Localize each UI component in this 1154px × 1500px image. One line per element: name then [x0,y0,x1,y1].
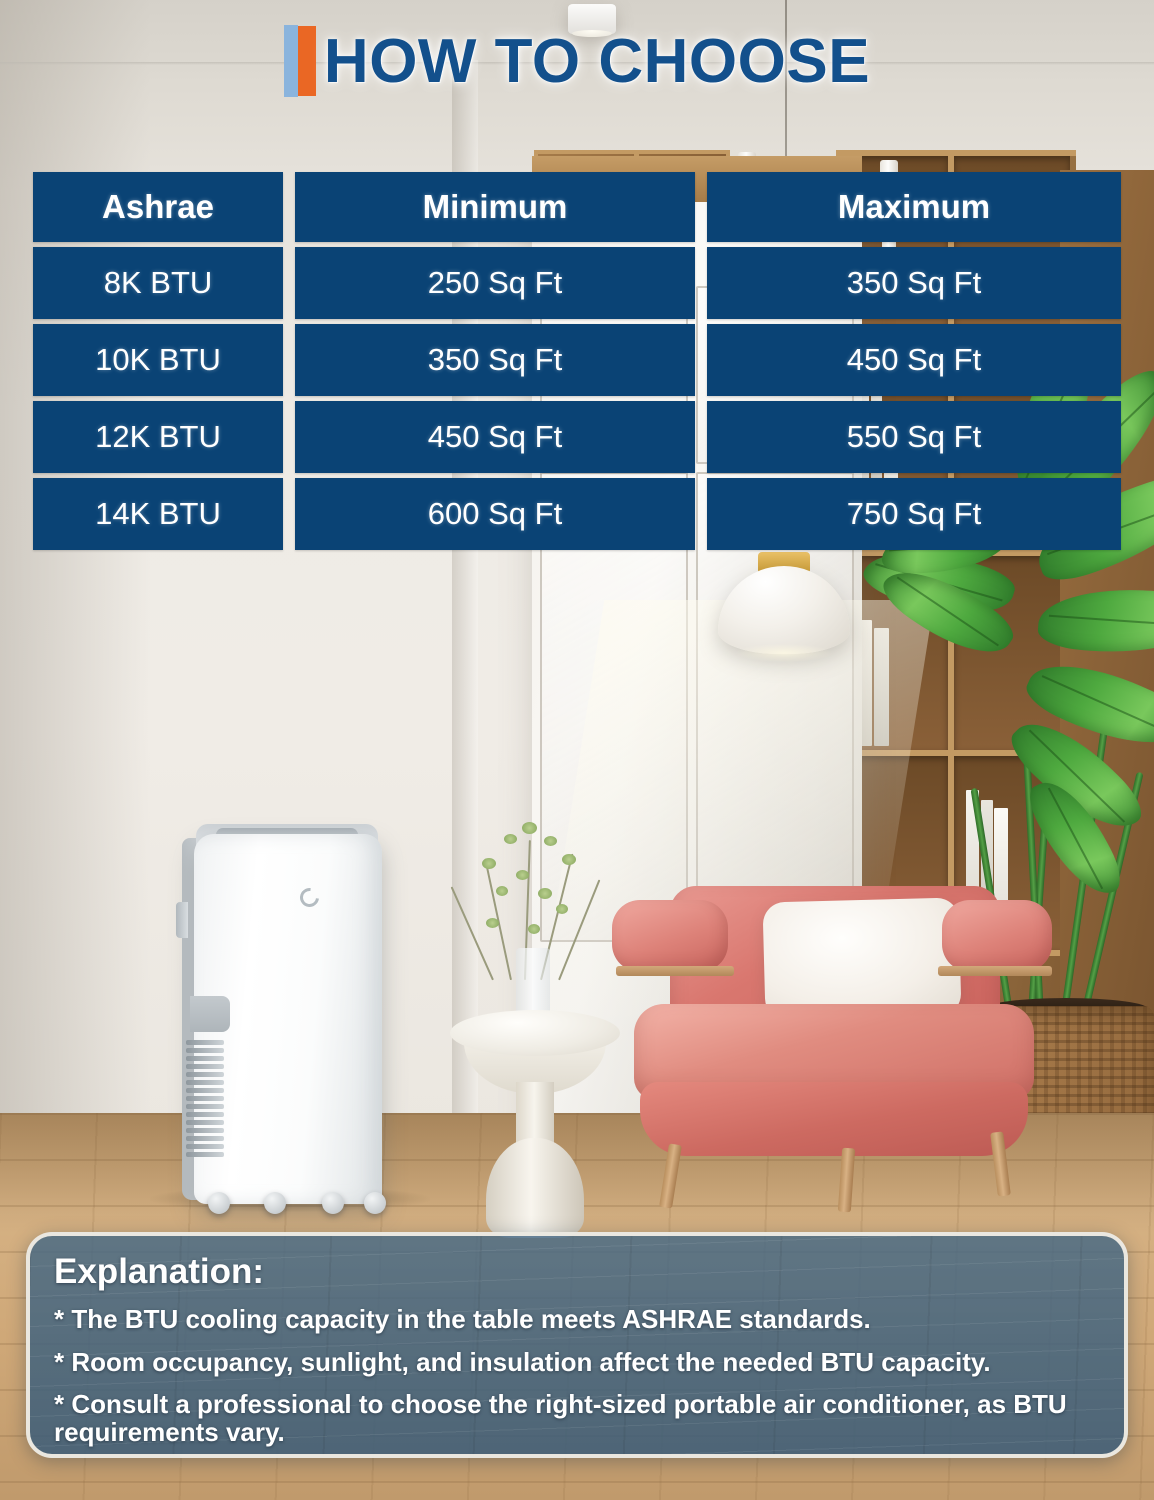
table-cell-ashrae: 14K BTU [33,478,283,550]
table-row: 14K BTU 600 Sq Ft 750 Sq Ft [33,478,1121,550]
table-header-maximum: Maximum [707,172,1121,242]
table-header-ashrae: Ashrae [33,172,283,242]
pendant-lamp [718,548,850,660]
table-header-row: Ashrae Minimum Maximum [33,172,1121,242]
table-cell-ashrae: 12K BTU [33,401,283,473]
white-pillow [762,897,961,1020]
portable-air-conditioner [160,824,410,1214]
table-cell-minimum: 250 Sq Ft [295,247,695,319]
caster-wheel [264,1192,286,1214]
table-cell-maximum: 750 Sq Ft [707,478,1121,550]
title-accent-blue-bar [284,25,298,97]
table-header-minimum: Minimum [295,172,695,242]
table-cell-minimum: 600 Sq Ft [295,478,695,550]
table-row: 8K BTU 250 Sq Ft 350 Sq Ft [33,247,1121,319]
table-row: 12K BTU 450 Sq Ft 550 Sq Ft [33,401,1121,473]
air-vent-grille-icon [186,1040,224,1180]
infographic-canvas: HOW TO CHOOSE Ashrae Minimum Maximum 8K … [0,0,1154,1500]
table-row: 10K BTU 350 Sq Ft 450 Sq Ft [33,324,1121,396]
title-accent-orange-bar [298,26,316,96]
caster-wheel [208,1192,230,1214]
btu-sizing-table: Ashrae Minimum Maximum 8K BTU 250 Sq Ft … [33,172,1121,550]
explanation-line: * Consult a professional to choose the r… [54,1391,1100,1446]
explanation-heading: Explanation: [54,1252,1100,1292]
table-cell-ashrae: 10K BTU [33,324,283,396]
caster-wheel [364,1192,386,1214]
page-title-text: HOW TO CHOOSE [324,26,870,97]
page-title: HOW TO CHOOSE [0,22,1154,100]
caster-wheel [322,1192,344,1214]
explanation-panel: Explanation: * The BTU cooling capacity … [26,1232,1128,1458]
explanation-line: * Room occupancy, sunlight, and insulati… [54,1349,1100,1377]
table-cell-maximum: 350 Sq Ft [707,247,1121,319]
table-cell-ashrae: 8K BTU [33,247,283,319]
table-cell-minimum: 350 Sq Ft [295,324,695,396]
explanation-line: * The BTU cooling capacity in the table … [54,1306,1100,1334]
table-cell-maximum: 550 Sq Ft [707,401,1121,473]
pink-armchair [612,886,1052,1226]
table-cell-minimum: 450 Sq Ft [295,401,695,473]
table-cell-maximum: 450 Sq Ft [707,324,1121,396]
side-table [450,1010,620,1235]
